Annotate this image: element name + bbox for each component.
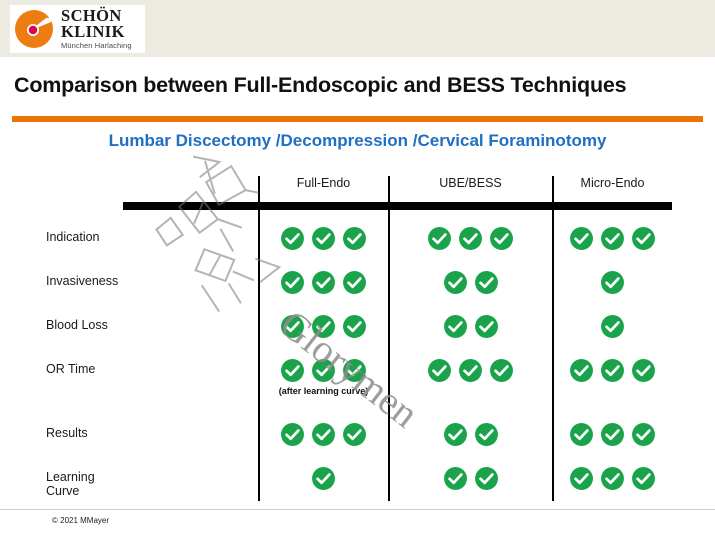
- rating-cell: [553, 218, 672, 262]
- check-circle-icon: [569, 422, 594, 447]
- check-circle-icon: [443, 314, 468, 339]
- rating-cell: [389, 414, 552, 458]
- column-header-micro-endo: Micro-Endo: [553, 176, 672, 190]
- table-header-bar: [123, 202, 672, 210]
- table-row: Indication: [123, 218, 672, 262]
- check-circle-icon: [342, 270, 367, 295]
- check-circle-icon: [280, 314, 305, 339]
- clinic-logo: SCHÖN KLINIK München Harlaching: [10, 5, 145, 53]
- slide-canvas: SCHÖN KLINIK München Harlaching Comparis…: [0, 0, 715, 535]
- check-circle-icon: [311, 422, 336, 447]
- rating-cell: [553, 458, 672, 502]
- row-label-results: Results: [23, 426, 118, 440]
- row-label-learning-curve: Learning Curve: [23, 470, 118, 498]
- rating-cell: [259, 262, 388, 306]
- check-circle-icon: [600, 270, 625, 295]
- check-circle-icon: [311, 358, 336, 383]
- check-circle-icon: [474, 270, 499, 295]
- check-circle-icon: [474, 422, 499, 447]
- copyright-text: © 2021 MMayer: [52, 516, 109, 525]
- rating-cell: (after learning curve): [259, 350, 388, 394]
- check-circle-icon: [342, 314, 367, 339]
- check-circle-icon: [443, 422, 468, 447]
- rating-cell: [389, 262, 552, 306]
- table-row: Blood Loss: [123, 306, 672, 350]
- page-title: Comparison between Full-Endoscopic and B…: [14, 73, 704, 98]
- check-circle-icon: [489, 226, 514, 251]
- check-circle-icon: [474, 314, 499, 339]
- column-header-ube-bess: UBE/BESS: [389, 176, 552, 190]
- check-circle-icon: [458, 358, 483, 383]
- table-row: Learning Curve: [123, 458, 672, 502]
- column-header-full-endo: Full-Endo: [259, 176, 388, 190]
- check-circle-icon: [427, 358, 452, 383]
- check-circle-icon: [311, 466, 336, 491]
- check-circle-icon: [569, 466, 594, 491]
- check-circle-icon: [631, 226, 656, 251]
- rating-cell: [259, 306, 388, 350]
- check-circle-icon: [443, 270, 468, 295]
- check-circle-icon: [474, 466, 499, 491]
- title-divider: [12, 116, 703, 122]
- row-label-blood-loss: Blood Loss: [23, 318, 118, 332]
- check-circle-icon: [631, 422, 656, 447]
- rating-cell: [553, 262, 672, 306]
- comparison-table: Full-EndoUBE/BESSMicro-Endo IndicationIn…: [123, 176, 672, 501]
- cell-note: (after learning curve): [259, 386, 388, 396]
- footer-divider: [0, 509, 715, 510]
- row-label-indication: Indication: [23, 230, 118, 244]
- check-circle-icon: [600, 358, 625, 383]
- check-circle-icon: [427, 226, 452, 251]
- check-circle-icon: [311, 314, 336, 339]
- table-column-headers: Full-EndoUBE/BESSMicro-Endo: [123, 176, 672, 198]
- check-circle-icon: [311, 270, 336, 295]
- column-divider-1: [258, 176, 260, 501]
- schoen-klinik-circle-logo-icon: [13, 8, 55, 50]
- check-circle-icon: [631, 466, 656, 491]
- check-circle-icon: [569, 358, 594, 383]
- row-label-or-time: OR Time: [23, 362, 118, 376]
- check-circle-icon: [600, 466, 625, 491]
- rating-cell: [389, 218, 552, 262]
- column-divider-3: [552, 176, 554, 501]
- check-circle-icon: [489, 358, 514, 383]
- check-circle-icon: [600, 314, 625, 339]
- rating-cell: [259, 218, 388, 262]
- rating-cell: [259, 414, 388, 458]
- check-circle-icon: [569, 226, 594, 251]
- logo-wordmark: SCHÖN KLINIK München Harlaching: [61, 8, 132, 50]
- check-circle-icon: [280, 226, 305, 251]
- check-circle-icon: [342, 226, 367, 251]
- check-circle-icon: [280, 422, 305, 447]
- table-row: OR Time(after learning curve): [123, 350, 672, 394]
- row-label-invasiveness: Invasiveness: [23, 274, 118, 288]
- check-circle-icon: [631, 358, 656, 383]
- check-circle-icon: [342, 422, 367, 447]
- table-row: Invasiveness: [123, 262, 672, 306]
- rating-cell: [259, 458, 388, 502]
- check-circle-icon: [280, 358, 305, 383]
- check-circle-icon: [342, 358, 367, 383]
- check-circle-icon: [600, 422, 625, 447]
- check-circle-icon: [280, 270, 305, 295]
- check-circle-icon: [458, 226, 483, 251]
- check-circle-icon: [443, 466, 468, 491]
- rating-cell: [389, 458, 552, 502]
- logo-line-2: KLINIK: [61, 24, 132, 40]
- check-circle-icon: [600, 226, 625, 251]
- rating-cell: [553, 306, 672, 350]
- check-circle-icon: [311, 226, 336, 251]
- rating-cell: [553, 350, 672, 394]
- rating-cell: [553, 414, 672, 458]
- rating-cell: [389, 350, 552, 394]
- column-divider-2: [388, 176, 390, 501]
- logo-location: München Harlaching: [61, 42, 132, 50]
- rating-cell: [389, 306, 552, 350]
- table-row: Results: [123, 414, 672, 458]
- page-subtitle: Lumbar Discectomy /Decompression /Cervic…: [0, 131, 715, 151]
